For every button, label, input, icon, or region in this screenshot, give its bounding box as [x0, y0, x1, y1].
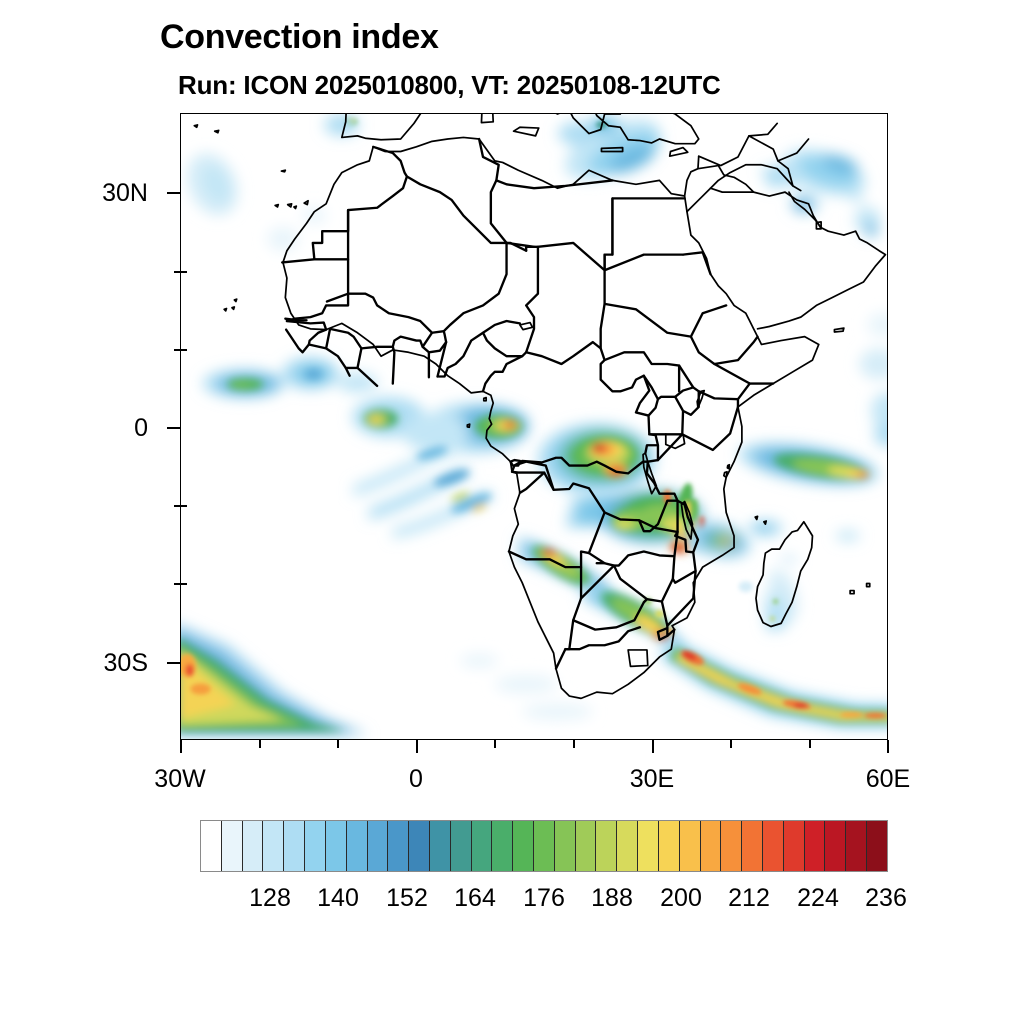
xtick-60e — [887, 740, 889, 753]
colorbar-cell-4 — [284, 821, 305, 871]
ytick-15n — [174, 271, 187, 273]
colorbar-cell-6 — [326, 821, 347, 871]
colorbar-cell-13 — [472, 821, 493, 871]
xlabel-30e: 30E — [582, 765, 722, 794]
ylabel-0: 0 — [28, 414, 148, 443]
map-canvas — [181, 114, 887, 739]
colorbar-cell-14 — [492, 821, 513, 871]
ytick-30n — [167, 192, 180, 194]
colorbar-cell-19 — [596, 821, 617, 871]
ytick-5n — [174, 349, 187, 351]
xlabel-0: 0 — [346, 765, 486, 794]
colorbar-cell-23 — [680, 821, 701, 871]
xtick-30e — [652, 740, 654, 753]
cbar-label-236: 236 — [841, 884, 931, 913]
run-valid-time-subtitle: Run: ICON 2025010800, VT: 20250108-12UTC — [178, 70, 721, 101]
xtick-50e — [809, 740, 811, 748]
colorbar-cell-29 — [805, 821, 826, 871]
colorbar-cell-17 — [555, 821, 576, 871]
xlabel-30w: 30W — [110, 765, 250, 794]
convection-field — [181, 114, 887, 735]
xtick-20w — [259, 740, 261, 748]
colorbar-cell-16 — [534, 821, 555, 871]
xtick-10e — [494, 740, 496, 748]
colorbar-cell-2 — [243, 821, 264, 871]
map-plot-area[interactable] — [180, 113, 888, 740]
colorbar-cell-18 — [576, 821, 597, 871]
xtick-40e — [730, 740, 732, 748]
ytick-15s — [174, 505, 187, 507]
colorbar-cell-1 — [222, 821, 243, 871]
ytick-25s — [174, 583, 187, 585]
colorbar-cell-3 — [263, 821, 284, 871]
colorbar-cell-24 — [701, 821, 722, 871]
colorbar-cell-27 — [763, 821, 784, 871]
colorbar-cell-20 — [617, 821, 638, 871]
ylabel-30s: 30S — [28, 649, 148, 678]
page-title: Convection index — [160, 18, 439, 57]
weather-map-figure: Convection index Run: ICON 2025010800, V… — [0, 0, 1024, 1024]
colorbar-cell-11 — [430, 821, 451, 871]
colorbar-cell-7 — [347, 821, 368, 871]
colorbar-cell-21 — [638, 821, 659, 871]
xtick-20e — [573, 740, 575, 748]
xtick-10w — [337, 740, 339, 748]
ylabel-30n: 30N — [28, 179, 148, 208]
xtick-30w — [180, 740, 182, 753]
colorbar-cell-5 — [305, 821, 326, 871]
colorbar-cell-12 — [451, 821, 472, 871]
xtick-0 — [416, 740, 418, 753]
colorbar-cell-28 — [784, 821, 805, 871]
xlabel-60e: 60E — [818, 765, 958, 794]
colorbar-cell-9 — [388, 821, 409, 871]
ytick-30s — [167, 662, 180, 664]
colorbar-cell-8 — [368, 821, 389, 871]
colorbar-cell-15 — [513, 821, 534, 871]
ytick-0 — [167, 427, 180, 429]
colorbar-cell-26 — [742, 821, 763, 871]
colorbar-cell-10 — [409, 821, 430, 871]
colorbar-cell-25 — [721, 821, 742, 871]
colorbar-cell-32 — [867, 821, 887, 871]
colorbar-cell-22 — [659, 821, 680, 871]
colorbar[interactable] — [200, 820, 888, 872]
colorbar-cell-0 — [201, 821, 222, 871]
colorbar-cell-31 — [846, 821, 867, 871]
colorbar-cell-30 — [825, 821, 846, 871]
